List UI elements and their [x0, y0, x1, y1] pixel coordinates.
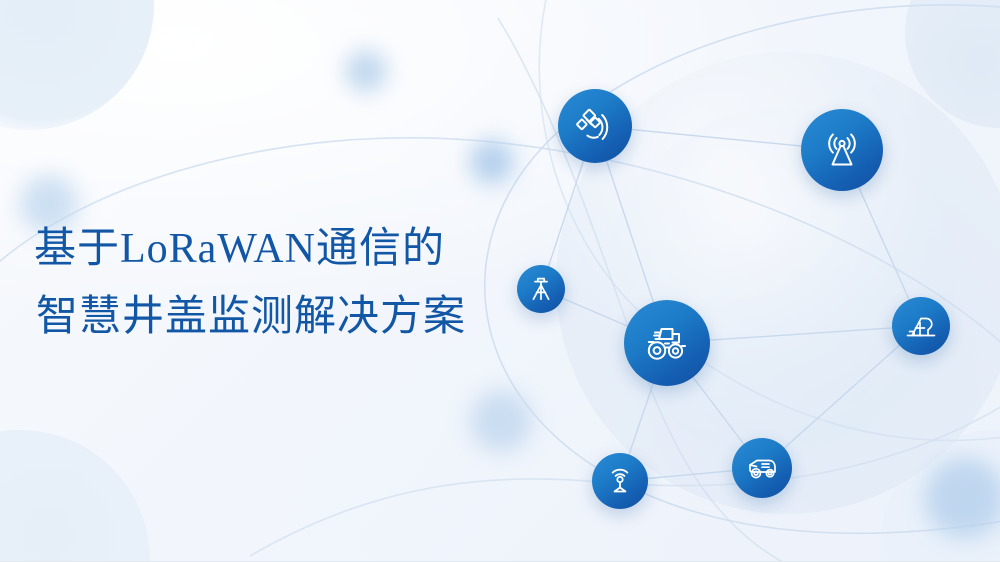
satellite-signal-icon — [574, 105, 616, 147]
node-wireless-sensor[interactable] — [592, 453, 648, 509]
node-oil-pumpjack[interactable] — [892, 297, 950, 355]
title-line-2: 智慧井盖监测解决方案 — [34, 296, 554, 338]
node-robot-mower[interactable] — [732, 438, 792, 498]
node-radio-tower[interactable] — [801, 109, 883, 191]
node-tractor[interactable] — [624, 300, 710, 386]
radio-tower-icon — [819, 127, 865, 173]
robot-mower-icon — [745, 451, 779, 485]
tractor-icon — [642, 318, 692, 368]
title-line-1: 基于LoRaWAN通信的 — [34, 228, 554, 270]
oil-pumpjack-icon — [904, 309, 938, 343]
slide-canvas: 基于LoRaWAN通信的 智慧井盖监测解决方案 — [0, 0, 1000, 562]
page-title: 基于LoRaWAN通信的 智慧井盖监测解决方案 — [34, 228, 554, 338]
node-satellite-signal[interactable] — [558, 89, 632, 163]
wireless-sensor-icon — [604, 465, 636, 497]
